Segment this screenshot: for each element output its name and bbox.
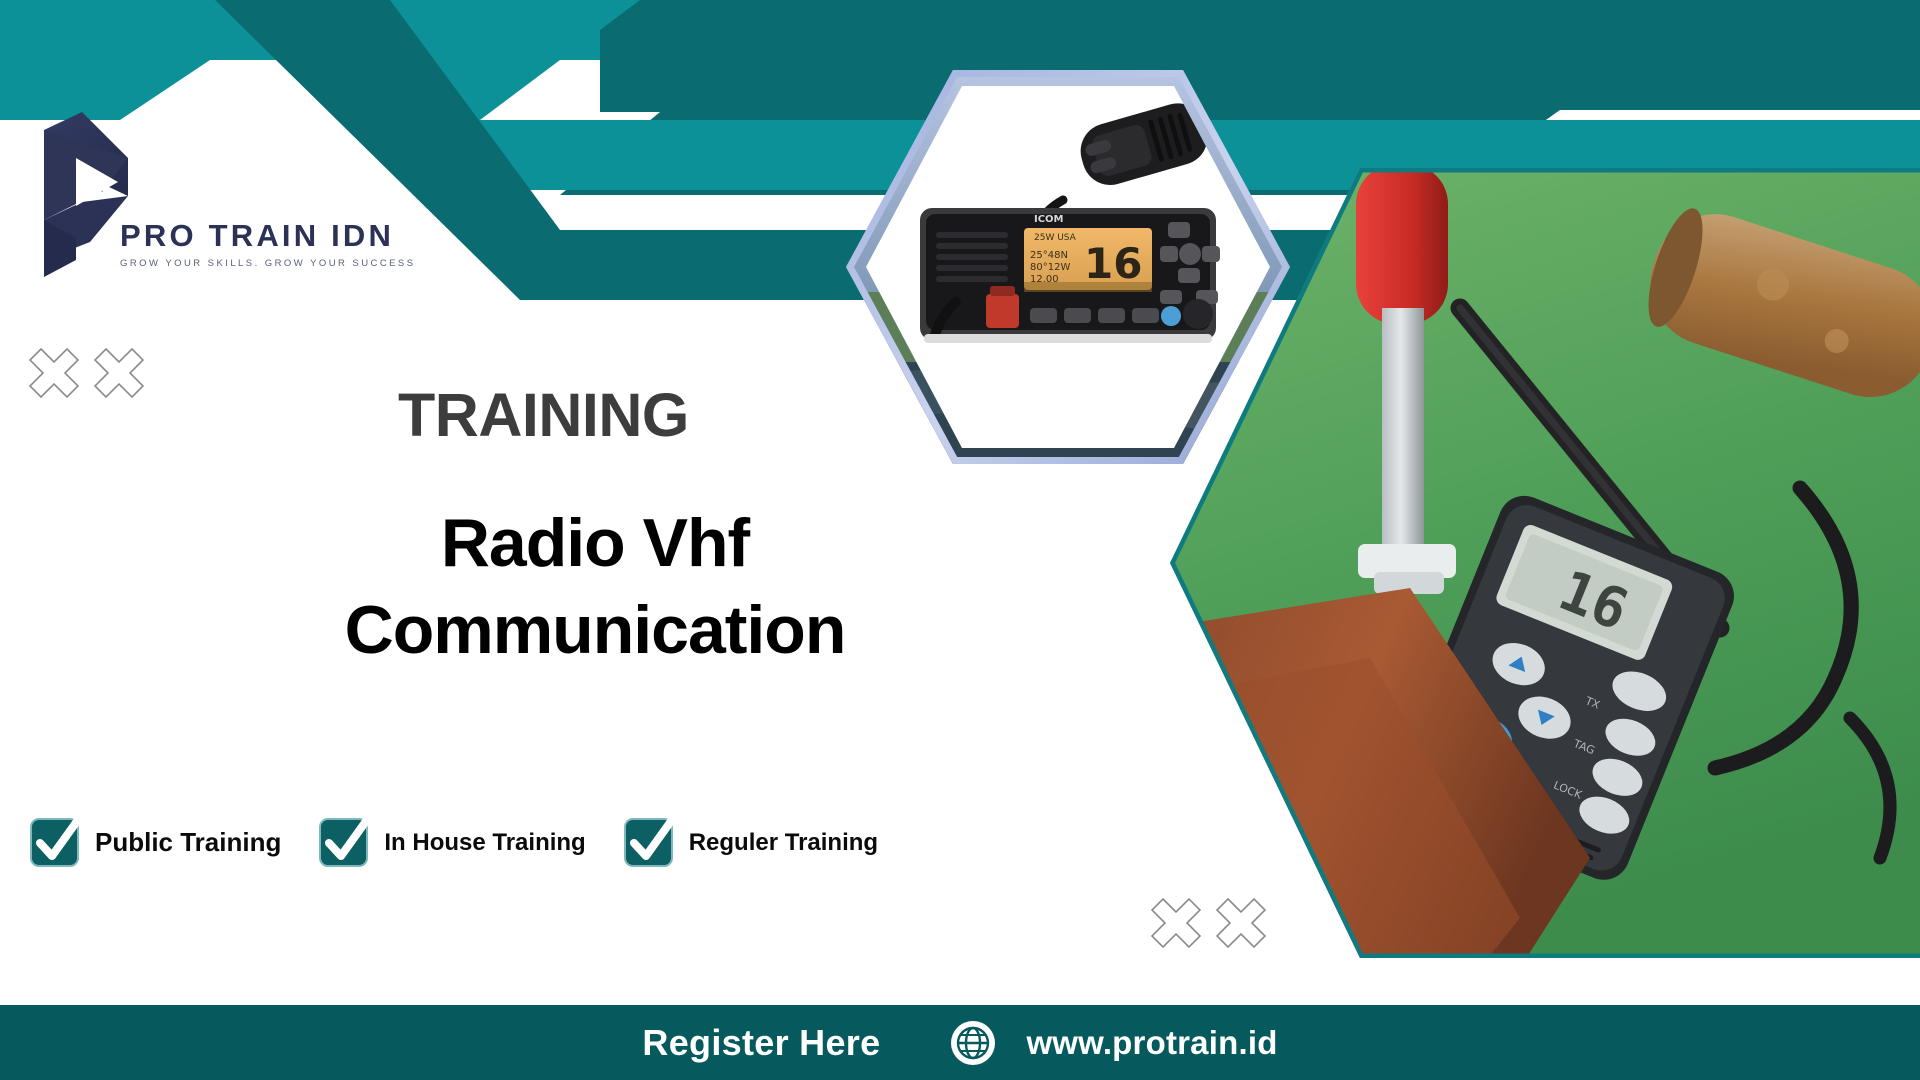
option-public-training[interactable]: Public Training — [30, 818, 281, 867]
checkmark-icon — [624, 811, 680, 873]
footer-content: Register Here www.protrain.id — [642, 1020, 1277, 1066]
brand-logo: PRO TRAIN IDN GROW YOUR SKILLS. GROW YOU… — [30, 112, 390, 292]
svg-text:16: 16 — [1084, 239, 1142, 288]
option-in-house-training[interactable]: In House Training — [319, 818, 585, 867]
hex-image-handheld-radio: 16 16 TX TAG LOCK iCOM — [1160, 158, 1920, 968]
checkbox-reguler-training[interactable] — [624, 818, 673, 867]
page-kicker: TRAINING — [398, 385, 689, 446]
svg-text:ICOM: ICOM — [1034, 214, 1064, 225]
option-label: In House Training — [384, 829, 585, 857]
page-title-line2: Communication — [215, 587, 975, 674]
svg-text:25°48N: 25°48N — [1030, 250, 1068, 261]
page-title-line1: Radio Vhf — [215, 500, 975, 587]
checkmark-icon — [30, 811, 86, 873]
globe-icon — [950, 1020, 996, 1066]
training-options: Public Training In House Training Regule… — [30, 818, 878, 867]
checkbox-public-training[interactable] — [30, 818, 79, 867]
footer-bar: Register Here www.protrain.id — [0, 1005, 1920, 1080]
option-label: Public Training — [95, 827, 281, 858]
register-cta[interactable]: Register Here — [642, 1022, 880, 1064]
checkmark-icon — [319, 811, 375, 873]
brand-tagline: GROW YOUR SKILLS. GROW YOUR SUCCESS — [120, 258, 416, 269]
brand-name: PRO TRAIN IDN — [120, 220, 416, 251]
option-reguler-training[interactable]: Reguler Training — [624, 818, 878, 867]
website-url[interactable]: www.protrain.id — [1026, 1024, 1277, 1062]
x-ornament-top-left — [28, 345, 150, 407]
svg-text:80°12W: 80°12W — [1030, 262, 1070, 273]
page-title: Radio Vhf Communication — [215, 500, 975, 674]
checkbox-in-house-training[interactable] — [319, 818, 368, 867]
brand-wordmark: PRO TRAIN IDN GROW YOUR SKILLS. GROW YOU… — [120, 220, 416, 269]
svg-text:25W USA: 25W USA — [1034, 233, 1077, 243]
option-label: Reguler Training — [689, 829, 878, 857]
poster-canvas: PRO TRAIN IDN GROW YOUR SKILLS. GROW YOU… — [0, 0, 1920, 1080]
